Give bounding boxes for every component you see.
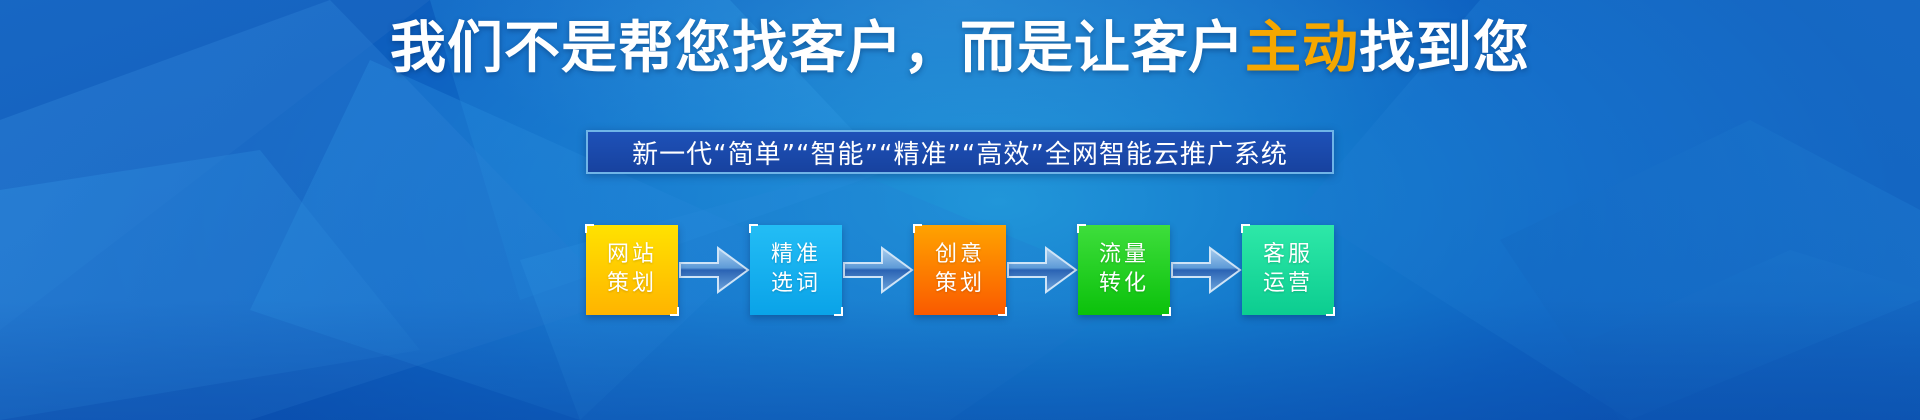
- background-facet-right-c: [1590, 250, 1920, 420]
- subtitle-text: 新一代“简单”“智能”“精准”“高效”全网智能云推广系统: [632, 134, 1288, 171]
- right-arrow-icon: [1170, 241, 1242, 299]
- process-step-line-2: 选词: [771, 270, 821, 299]
- process-step-line-1: 精准: [771, 241, 821, 270]
- promo-banner: 我们不是帮您找客户，而是让客户主动找到您 新一代“简单”“智能”“精准”“高效”…: [0, 0, 1920, 420]
- process-step-website-planning[interactable]: 网站 策划: [586, 225, 678, 315]
- process-step-keyword-selection[interactable]: 精准 选词: [750, 225, 842, 315]
- background-facet-left-light: [0, 150, 420, 420]
- background-bottom-shade: [0, 300, 1920, 420]
- process-step-traffic-conversion[interactable]: 流量 转化: [1078, 225, 1170, 315]
- process-chain: 网站 策划 精准 选词: [586, 225, 1334, 315]
- process-step-line-1: 网站: [607, 241, 657, 270]
- right-arrow-icon: [678, 241, 750, 299]
- background-facet-right-b: [1500, 120, 1920, 420]
- headline-part-2: 找到您: [1359, 16, 1530, 81]
- process-step-line-2: 策划: [607, 270, 657, 299]
- process-step-line-1: 客服: [1263, 241, 1313, 270]
- headline: 我们不是帮您找客户，而是让客户主动找到您: [0, 18, 1920, 80]
- subtitle-bar: 新一代“简单”“智能”“精准”“高效”全网智能云推广系统: [586, 130, 1334, 174]
- process-step-line-1: 流量: [1099, 241, 1149, 270]
- headline-highlight: 主动: [1245, 16, 1359, 81]
- right-arrow-icon: [842, 241, 914, 299]
- process-step-creative-planning[interactable]: 创意 策划: [914, 225, 1006, 315]
- process-step-line-2: 运营: [1263, 270, 1313, 299]
- process-step-line-2: 策划: [935, 270, 985, 299]
- process-step-line-1: 创意: [935, 241, 985, 270]
- process-step-customer-service[interactable]: 客服 运营: [1242, 225, 1334, 315]
- process-step-line-2: 转化: [1099, 270, 1149, 299]
- right-arrow-icon: [1006, 241, 1078, 299]
- headline-part-1: 我们不是帮您找客户，而是让客户: [390, 16, 1245, 81]
